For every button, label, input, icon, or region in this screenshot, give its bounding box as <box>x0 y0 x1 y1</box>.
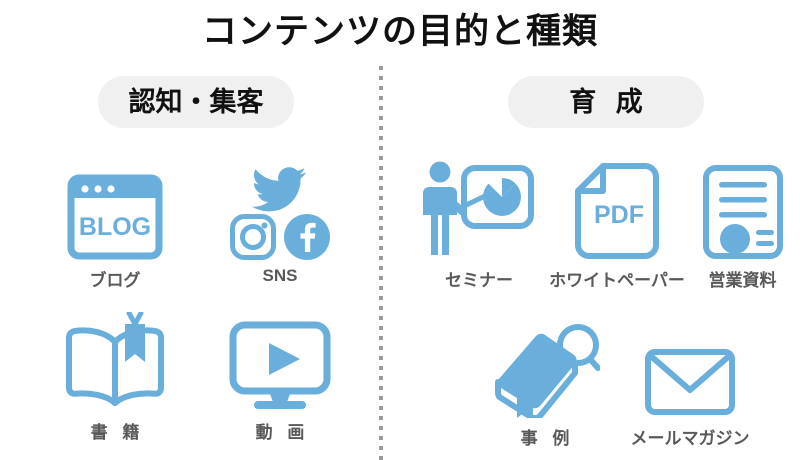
content-item-blog[interactable]: BLOG ブログ <box>45 160 185 291</box>
facebook-icon <box>284 214 330 260</box>
content-item-whitepaper-label: ホワイトペーパー <box>547 266 687 291</box>
content-item-video-label: 動 画 <box>210 418 350 443</box>
seminar-presenter-icon <box>410 160 548 260</box>
section-heading-awareness: 認知・集客 <box>98 76 294 128</box>
instagram-icon <box>233 217 274 258</box>
twitter-icon <box>252 167 306 211</box>
content-item-mail-magazine-label: メールマガジン <box>615 424 765 449</box>
sales-document-chart-icon <box>690 160 795 260</box>
content-item-seminar-label: セミナー <box>410 266 548 291</box>
svg-text:PDF: PDF <box>594 201 644 229</box>
section-heading-nurturing-label: 育 成 <box>563 87 649 117</box>
content-item-sns[interactable]: SNS <box>210 160 350 286</box>
mail-envelope-icon <box>615 318 765 418</box>
book-bookmark-icon <box>45 312 185 412</box>
svg-text:BLOG: BLOG <box>79 213 151 241</box>
content-item-seminar[interactable]: セミナー <box>410 160 548 291</box>
content-item-sales-material[interactable]: 営業資料 <box>690 160 795 291</box>
content-item-case-study[interactable]: 事 例 <box>480 318 610 449</box>
video-monitor-play-icon <box>210 312 350 412</box>
content-item-book[interactable]: 書 籍 <box>45 312 185 443</box>
pdf-document-icon: PDF <box>547 160 687 260</box>
content-item-case-study-label: 事 例 <box>480 424 610 449</box>
content-item-whitepaper[interactable]: PDF ホワイトペーパー <box>547 160 687 291</box>
content-item-mail-magazine[interactable]: メールマガジン <box>615 318 765 449</box>
page-title: コンテンツの目的と種類 <box>0 8 800 56</box>
vertical-dotted-divider <box>379 66 383 460</box>
content-item-blog-label: ブログ <box>45 266 185 291</box>
blog-browser-icon: BLOG <box>45 160 185 260</box>
case-study-book-magnifier-icon <box>480 318 610 418</box>
content-item-book-label: 書 籍 <box>45 418 185 443</box>
sns-social-icons <box>210 160 350 260</box>
content-item-video[interactable]: 動 画 <box>210 312 350 443</box>
section-heading-awareness-label: 認知・集客 <box>129 87 264 117</box>
content-item-sales-material-label: 営業資料 <box>690 266 795 291</box>
content-item-sns-label: SNS <box>210 266 350 286</box>
section-heading-nurturing: 育 成 <box>508 76 704 128</box>
